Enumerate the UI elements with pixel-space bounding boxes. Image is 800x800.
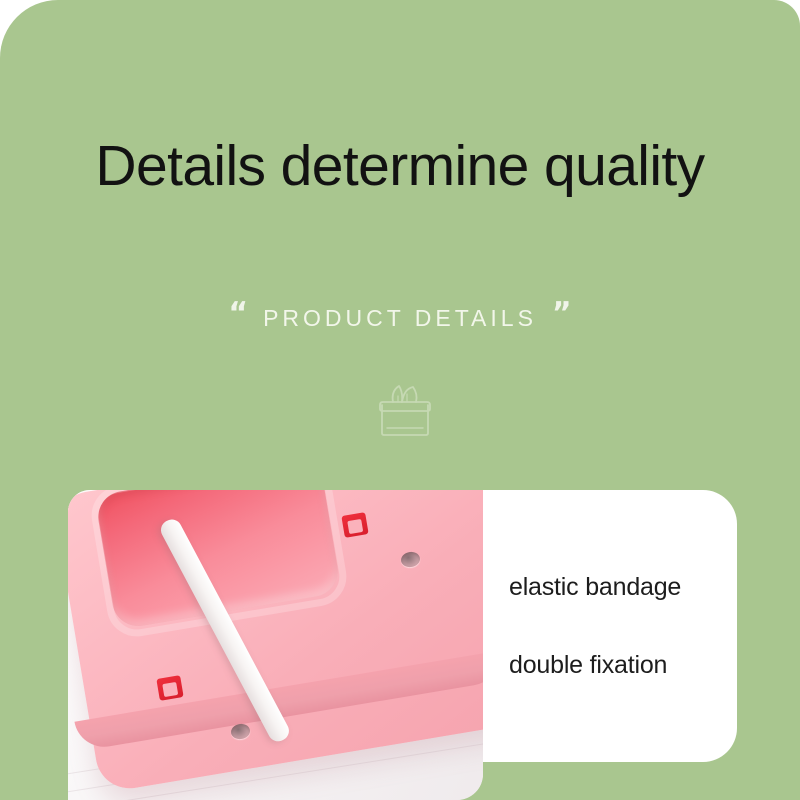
caption-panel: elastic bandage double fixation [483,490,737,762]
product-detail-band: elastic bandage double fixation [68,490,737,800]
tissue-box-icon [371,378,439,440]
subtitle-group: “ PRODUCT DETAILS ” [0,303,800,333]
page-title: Details determine quality [0,132,800,200]
caption-elastic-bandage: elastic bandage [509,572,737,602]
close-quote-icon: ” [552,303,572,325]
open-quote-icon: “ [228,303,248,325]
bandage-clip-top [341,512,368,538]
product-photo [68,490,483,800]
bandage-clip-bottom [156,675,183,701]
product-detail-banner: Details determine quality “ PRODUCT DETA… [0,0,800,800]
subtitle-label: PRODUCT DETAILS [263,303,537,333]
caption-double-fixation: double fixation [509,650,737,680]
